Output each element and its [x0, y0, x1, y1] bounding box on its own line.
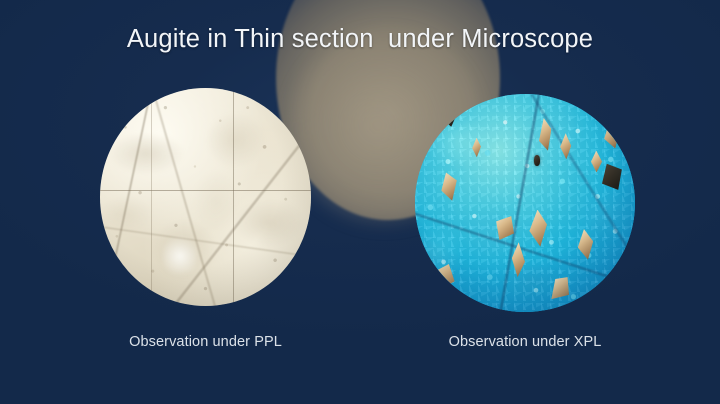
micrograph-ppl: [100, 88, 311, 306]
page-title: Augite in Thin section under Microscope: [0, 22, 720, 56]
micrograph-xpl: [415, 94, 635, 312]
slide-canvas: Augite in Thin section under Microscope: [0, 0, 720, 404]
caption-ppl: Observation under PPL: [100, 332, 311, 352]
ppl-vignette: [100, 88, 311, 306]
caption-xpl: Observation under XPL: [415, 332, 635, 352]
xpl-vignette: [415, 94, 635, 312]
